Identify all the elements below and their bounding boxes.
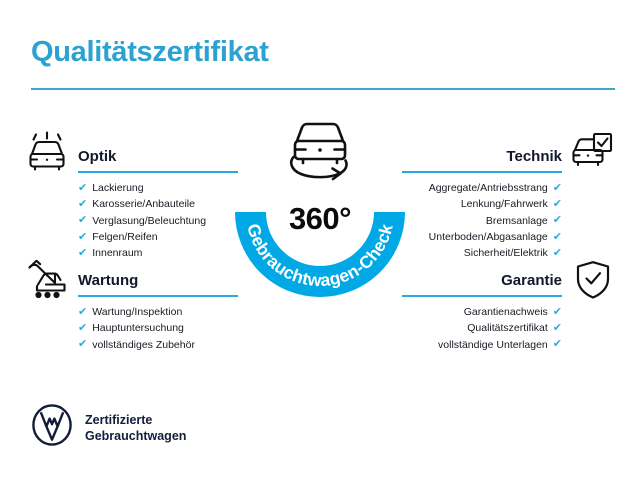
list-item: ✔Innenraum [78,245,238,261]
list-item: ✔Lackierung [78,180,238,196]
list-item-label: Qualitätszertifikat [467,320,548,336]
list-item: ✔vollständiges Zubehör [78,337,238,353]
list-item: Aggregate/Antriebsstrang✔ [402,180,562,196]
section-wartung: Wartung ✔Wartung/Inspektion ✔Hauptunters… [78,267,238,353]
list-item-label: vollständiges Zubehör [92,337,195,353]
check-icon: ✔ [553,215,562,226]
section-header: Technik [402,143,562,173]
list-item: ✔Wartung/Inspektion [78,304,238,320]
checklist-wartung: ✔Wartung/Inspektion ✔Hauptuntersuchung ✔… [78,304,238,353]
list-item: Lenkung/Fahrwerk✔ [402,196,562,212]
check-icon: ✔ [78,232,87,243]
section-divider [402,171,562,173]
check-icon: ✔ [78,323,87,334]
footer-text: Zertifizierte Gebrauchtwagen [85,412,186,444]
section-divider [78,295,238,297]
check-icon: ✔ [78,183,87,194]
check-icon: ✔ [553,248,562,259]
badge-360-gebrauchtwagen-check: Gebrauchtwagen-Check 360° [224,116,416,308]
check-icon: ✔ [553,232,562,243]
list-item-label: Wartung/Inspektion [92,304,182,320]
certificate-page: Qualitätszertifikat [0,0,640,480]
list-item: Bremsanlage✔ [402,213,562,229]
check-icon: ✔ [553,323,562,334]
list-item-label: Felgen/Reifen [92,229,157,245]
car-checkbox-icon [569,131,615,178]
section-header: Garantie [402,267,562,297]
list-item: vollständige Unterlagen✔ [402,337,562,353]
header-divider [31,88,615,90]
list-item-label: Karosserie/Anbauteile [92,196,195,212]
checklist-garantie: Garantienachweis✔ Qualitätszertifikat✔ v… [402,304,562,353]
section-header: Wartung [78,267,238,297]
list-item: Unterboden/Abgasanlage✔ [402,229,562,245]
section-title: Garantie [501,272,562,289]
section-garantie: Garantie Garantienachweis✔ Qualitätszert… [402,267,562,353]
list-item-label: Aggregate/Antriebsstrang [429,180,548,196]
list-item: ✔Verglasung/Beleuchtung [78,213,238,229]
check-icon: ✔ [78,199,87,210]
footer-branding: Zertifizierte Gebrauchtwagen [31,404,186,451]
car-rotate-icon [284,110,356,189]
list-item-label: vollständige Unterlagen [438,337,548,353]
vw-logo-icon [31,404,73,451]
section-title: Technik [506,148,562,165]
check-icon: ✔ [553,199,562,210]
checklist-optik: ✔Lackierung ✔Karosserie/Anbauteile ✔Verg… [78,180,238,261]
section-optik: Optik ✔Lackierung ✔Karosserie/Anbauteile… [78,143,238,261]
section-header: Optik [78,143,238,173]
car-shine-icon [24,131,70,178]
section-title: Optik [78,148,116,165]
list-item-label: Innenraum [92,245,142,261]
list-item: ✔Hauptuntersuchung [78,320,238,336]
section-technik: Technik Aggregate/Antriebsstrang✔ Lenkun… [402,143,562,261]
list-item-label: Garantienachweis [464,304,548,320]
check-icon: ✔ [78,307,87,318]
section-divider [402,295,562,297]
list-item: Garantienachweis✔ [402,304,562,320]
list-item-label: Bremsanlage [486,213,548,229]
list-item-label: Sicherheit/Elektrik [464,245,548,261]
check-icon: ✔ [78,248,87,259]
section-divider [78,171,238,173]
check-icon: ✔ [78,215,87,226]
list-item: ✔Felgen/Reifen [78,229,238,245]
checklist-technik: Aggregate/Antriebsstrang✔ Lenkung/Fahrwe… [402,180,562,261]
list-item-label: Unterboden/Abgasanlage [429,229,548,245]
list-item: Qualitätszertifikat✔ [402,320,562,336]
list-item: Sicherheit/Elektrik✔ [402,245,562,261]
list-item-label: Lenkung/Fahrwerk [461,196,548,212]
check-icon: ✔ [553,307,562,318]
list-item-label: Hauptuntersuchung [92,320,184,336]
footer-line-2: Gebrauchtwagen [85,428,186,444]
list-item-label: Lackierung [92,180,143,196]
check-icon: ✔ [553,339,562,350]
check-icon: ✔ [553,183,562,194]
shield-check-icon [574,259,612,306]
check-icon: ✔ [78,339,87,350]
section-title: Wartung [78,272,138,289]
list-item: ✔Karosserie/Anbauteile [78,196,238,212]
footer-line-1: Zertifizierte [85,412,186,428]
list-item-label: Verglasung/Beleuchtung [92,213,206,229]
page-title: Qualitätszertifikat [31,36,269,69]
car-wrench-icon [24,259,70,306]
